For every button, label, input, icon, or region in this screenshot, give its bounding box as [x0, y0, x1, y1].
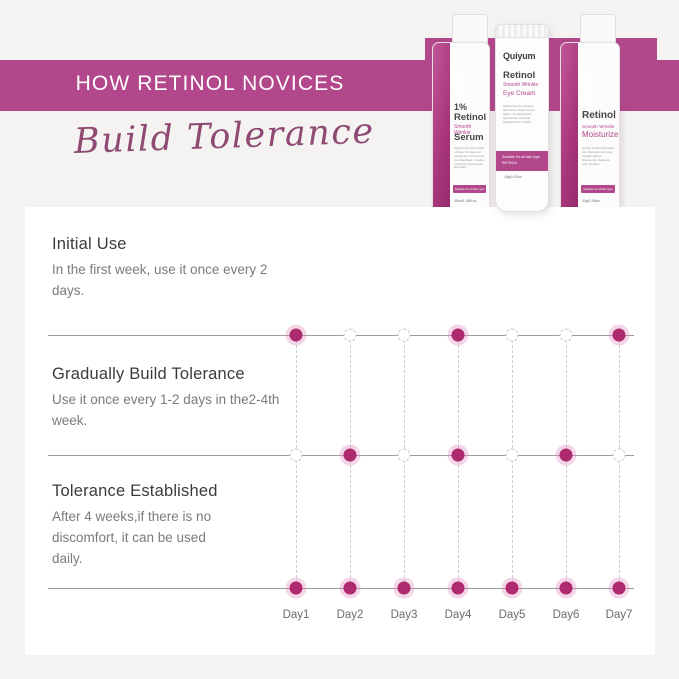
moisturizer-description: Smooth wrinkles and tighten skin. Moistu… — [582, 147, 615, 166]
section-gradually-build-tolerance: Gradually Build Tolerance Use it once ev… — [52, 365, 292, 431]
serum-side-band: Quiyum — [433, 43, 450, 215]
moisturizer-name-line3: Moisturizer — [582, 131, 620, 140]
timeline-dot-row3-day6[interactable] — [560, 582, 573, 595]
day-label-4: Day4 — [445, 609, 472, 621]
serum-volume: 30ml/1.06fl.oz — [454, 199, 476, 203]
timeline-dot-row1-day6[interactable] — [560, 329, 573, 342]
eye-cream-description: Reduce fine lines. Reduce dark circles. … — [503, 105, 539, 124]
serum-description: Tighten pores and smooth wrinkles. Stimu… — [454, 147, 485, 170]
timeline-dot-row3-day4[interactable] — [452, 582, 465, 595]
eye-cream-subtitle: Smooth Wrinkle — [503, 83, 538, 89]
timeline-dot-row1-day2[interactable] — [344, 329, 357, 342]
section-title-gradually-build-tolerance: Gradually Build Tolerance — [52, 365, 292, 384]
serum-cap — [452, 14, 488, 45]
product-eye-cream: Quiyum Retinol Smooth Wrinkle Eye Cream … — [495, 24, 549, 212]
timeline-dot-row1-day5[interactable] — [506, 329, 519, 342]
page-title: HOW RETINOL NOVICES — [0, 72, 420, 96]
timeline-dot-row3-day1[interactable] — [290, 582, 303, 595]
timeline-card: Initial Use In the first week, use it on… — [25, 207, 655, 655]
serum-name-line3: Serum — [454, 133, 484, 143]
day-guide-3 — [404, 335, 405, 588]
day-label-2: Day2 — [337, 609, 364, 621]
tube-crimp — [496, 25, 548, 38]
page-subtitle: Build Tolerance — [73, 112, 374, 162]
day-guide-5 — [512, 335, 513, 588]
timeline-dot-row1-day3[interactable] — [398, 329, 411, 342]
timeline-dot-row3-day5[interactable] — [506, 582, 519, 595]
day-label-1: Day1 — [283, 609, 310, 621]
timeline-row-2-line — [48, 455, 634, 456]
day-guide-4 — [458, 335, 459, 588]
moisturizer-cap — [580, 14, 616, 45]
moisturizer-subtitle: Smooth Wrinkle — [582, 124, 614, 129]
timeline-row-1-line — [48, 335, 634, 336]
eye-cream-name-line3: Eye Cream — [503, 90, 536, 97]
day-guide-7 — [619, 335, 620, 588]
section-desc-tolerance-established: After 4 weeks,if there is no discomfort,… — [52, 506, 227, 569]
timeline-dot-row2-day6[interactable] — [560, 449, 573, 462]
section-initial-use: Initial Use In the first week, use it on… — [52, 235, 292, 301]
timeline-dot-row3-day3[interactable] — [398, 582, 411, 595]
day-label-7: Day7 — [606, 609, 633, 621]
product-serum: Quiyum 1% Retinol Smooth Wrinkle Serum T… — [432, 42, 490, 216]
timeline-dot-row2-day5[interactable] — [506, 449, 519, 462]
timeline-dot-row1-day1[interactable] — [290, 329, 303, 342]
eye-cream-volume: 15g/0.53oz — [504, 175, 522, 179]
eye-cream-brand: Quiyum — [503, 51, 535, 61]
timeline-dot-row3-day2[interactable] — [344, 582, 357, 595]
timeline-dot-row2-day3[interactable] — [398, 449, 411, 462]
day-guide-6 — [566, 335, 567, 588]
timeline-row-3-line — [48, 588, 634, 589]
day-guide-1 — [296, 335, 297, 588]
product-moisturizer: Quiyum Retinol Smooth Wrinkle Moisturize… — [560, 42, 620, 216]
eye-cream-badge: Suitable for all skin type RETINOL — [496, 151, 548, 171]
moisturizer-badge: Suitable for all skin type — [581, 185, 615, 193]
moisturizer-volume: 30g/1.06oz — [582, 199, 600, 203]
moisturizer-side-band: Quiyum — [561, 43, 578, 215]
timeline-dot-row3-day7[interactable] — [613, 582, 626, 595]
section-title-tolerance-established: Tolerance Established — [52, 482, 227, 501]
day-label-5: Day5 — [499, 609, 526, 621]
timeline-dot-row2-day7[interactable] — [613, 449, 626, 462]
timeline-dot-row2-day4[interactable] — [452, 449, 465, 462]
timeline-dot-row1-day4[interactable] — [452, 329, 465, 342]
day-guide-2 — [350, 335, 351, 588]
timeline-dot-row2-day2[interactable] — [344, 449, 357, 462]
day-label-3: Day3 — [391, 609, 418, 621]
eye-cream-name-line1: Retinol — [503, 71, 535, 81]
section-desc-gradually-build-tolerance: Use it once every 1-2 days in the2-4th w… — [52, 389, 292, 431]
section-tolerance-established: Tolerance Established After 4 weeks,if t… — [52, 482, 227, 569]
section-title-initial-use: Initial Use — [52, 235, 292, 254]
section-desc-initial-use: In the first week, use it once every 2 d… — [52, 259, 292, 301]
product-lineup: Quiyum 1% Retinol Smooth Wrinkle Serum T… — [424, 14, 636, 214]
timeline-dot-row1-day7[interactable] — [613, 329, 626, 342]
timeline-dot-row2-day1[interactable] — [290, 449, 303, 462]
moisturizer-name-line1: Retinol — [582, 111, 616, 122]
day-label-6: Day6 — [553, 609, 580, 621]
serum-badge: Suitable for all skin type — [453, 185, 486, 193]
serum-name-line2: Retinol — [454, 113, 486, 123]
